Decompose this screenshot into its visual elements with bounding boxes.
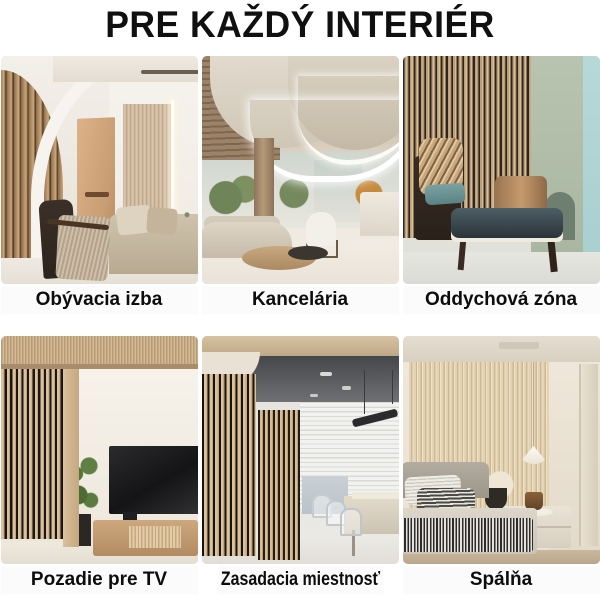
photo-meeting-room bbox=[202, 336, 399, 564]
caption-bedroom: Spálňa bbox=[403, 566, 600, 594]
chair bbox=[340, 508, 362, 536]
photo-bedroom bbox=[403, 336, 600, 564]
scene-relax-zone bbox=[403, 56, 600, 284]
plant bbox=[177, 184, 197, 228]
photo-tv-background bbox=[1, 336, 198, 564]
light-strip bbox=[171, 100, 174, 220]
scene-living-room bbox=[1, 56, 198, 284]
scene-office bbox=[202, 56, 399, 284]
gallery-cell-living-room[interactable]: Obývacia izba bbox=[1, 56, 198, 314]
gallery-cell-tv-background[interactable]: Pozadie pre TV bbox=[1, 336, 198, 594]
reception-desk bbox=[360, 192, 399, 236]
daybed-bench bbox=[451, 208, 563, 238]
door-handle bbox=[85, 192, 109, 197]
caption-office: Kancelária bbox=[202, 286, 399, 314]
interior-gallery-grid: Obývacia izba bbox=[0, 56, 600, 600]
scene-bedroom bbox=[403, 336, 600, 564]
caption-meeting-room: Zasadacia miestnosť bbox=[217, 566, 382, 594]
scene-tv-background bbox=[1, 336, 198, 564]
gallery-cell-relax-zone[interactable]: Oddychová zóna bbox=[403, 56, 600, 314]
wood-slat-wall bbox=[1, 369, 65, 539]
scene-meeting-room bbox=[202, 336, 399, 564]
lounge-chair bbox=[306, 212, 336, 246]
teal-panel bbox=[581, 56, 600, 262]
photo-relax-zone bbox=[403, 56, 600, 284]
wood-slat-partition bbox=[258, 410, 300, 560]
television bbox=[109, 446, 198, 514]
photo-office bbox=[202, 56, 399, 284]
photo-living-room bbox=[1, 56, 198, 284]
gallery-cell-bedroom[interactable]: Spálňa bbox=[403, 336, 600, 594]
gallery-cell-meeting-room[interactable]: Zasadacia miestnosť bbox=[202, 336, 399, 594]
wood-slat-wall bbox=[202, 374, 256, 556]
cushion bbox=[424, 183, 465, 206]
blanket bbox=[403, 518, 533, 552]
rattan-door bbox=[129, 526, 181, 548]
page-title: PRE KAŽDÝ INTERIÉR bbox=[12, 0, 588, 50]
gallery-cell-office[interactable]: Kancelária bbox=[202, 56, 399, 314]
caption-relax-zone: Oddychová zóna bbox=[403, 286, 600, 314]
wardrobe-door bbox=[579, 364, 598, 546]
ceiling-vent bbox=[499, 342, 539, 349]
caption-living-room: Obývacia izba bbox=[1, 286, 198, 314]
caption-tv-background: Pozadie pre TV bbox=[1, 566, 198, 594]
poster-root: PRE KAŽDÝ INTERIÉR bbox=[0, 0, 600, 600]
